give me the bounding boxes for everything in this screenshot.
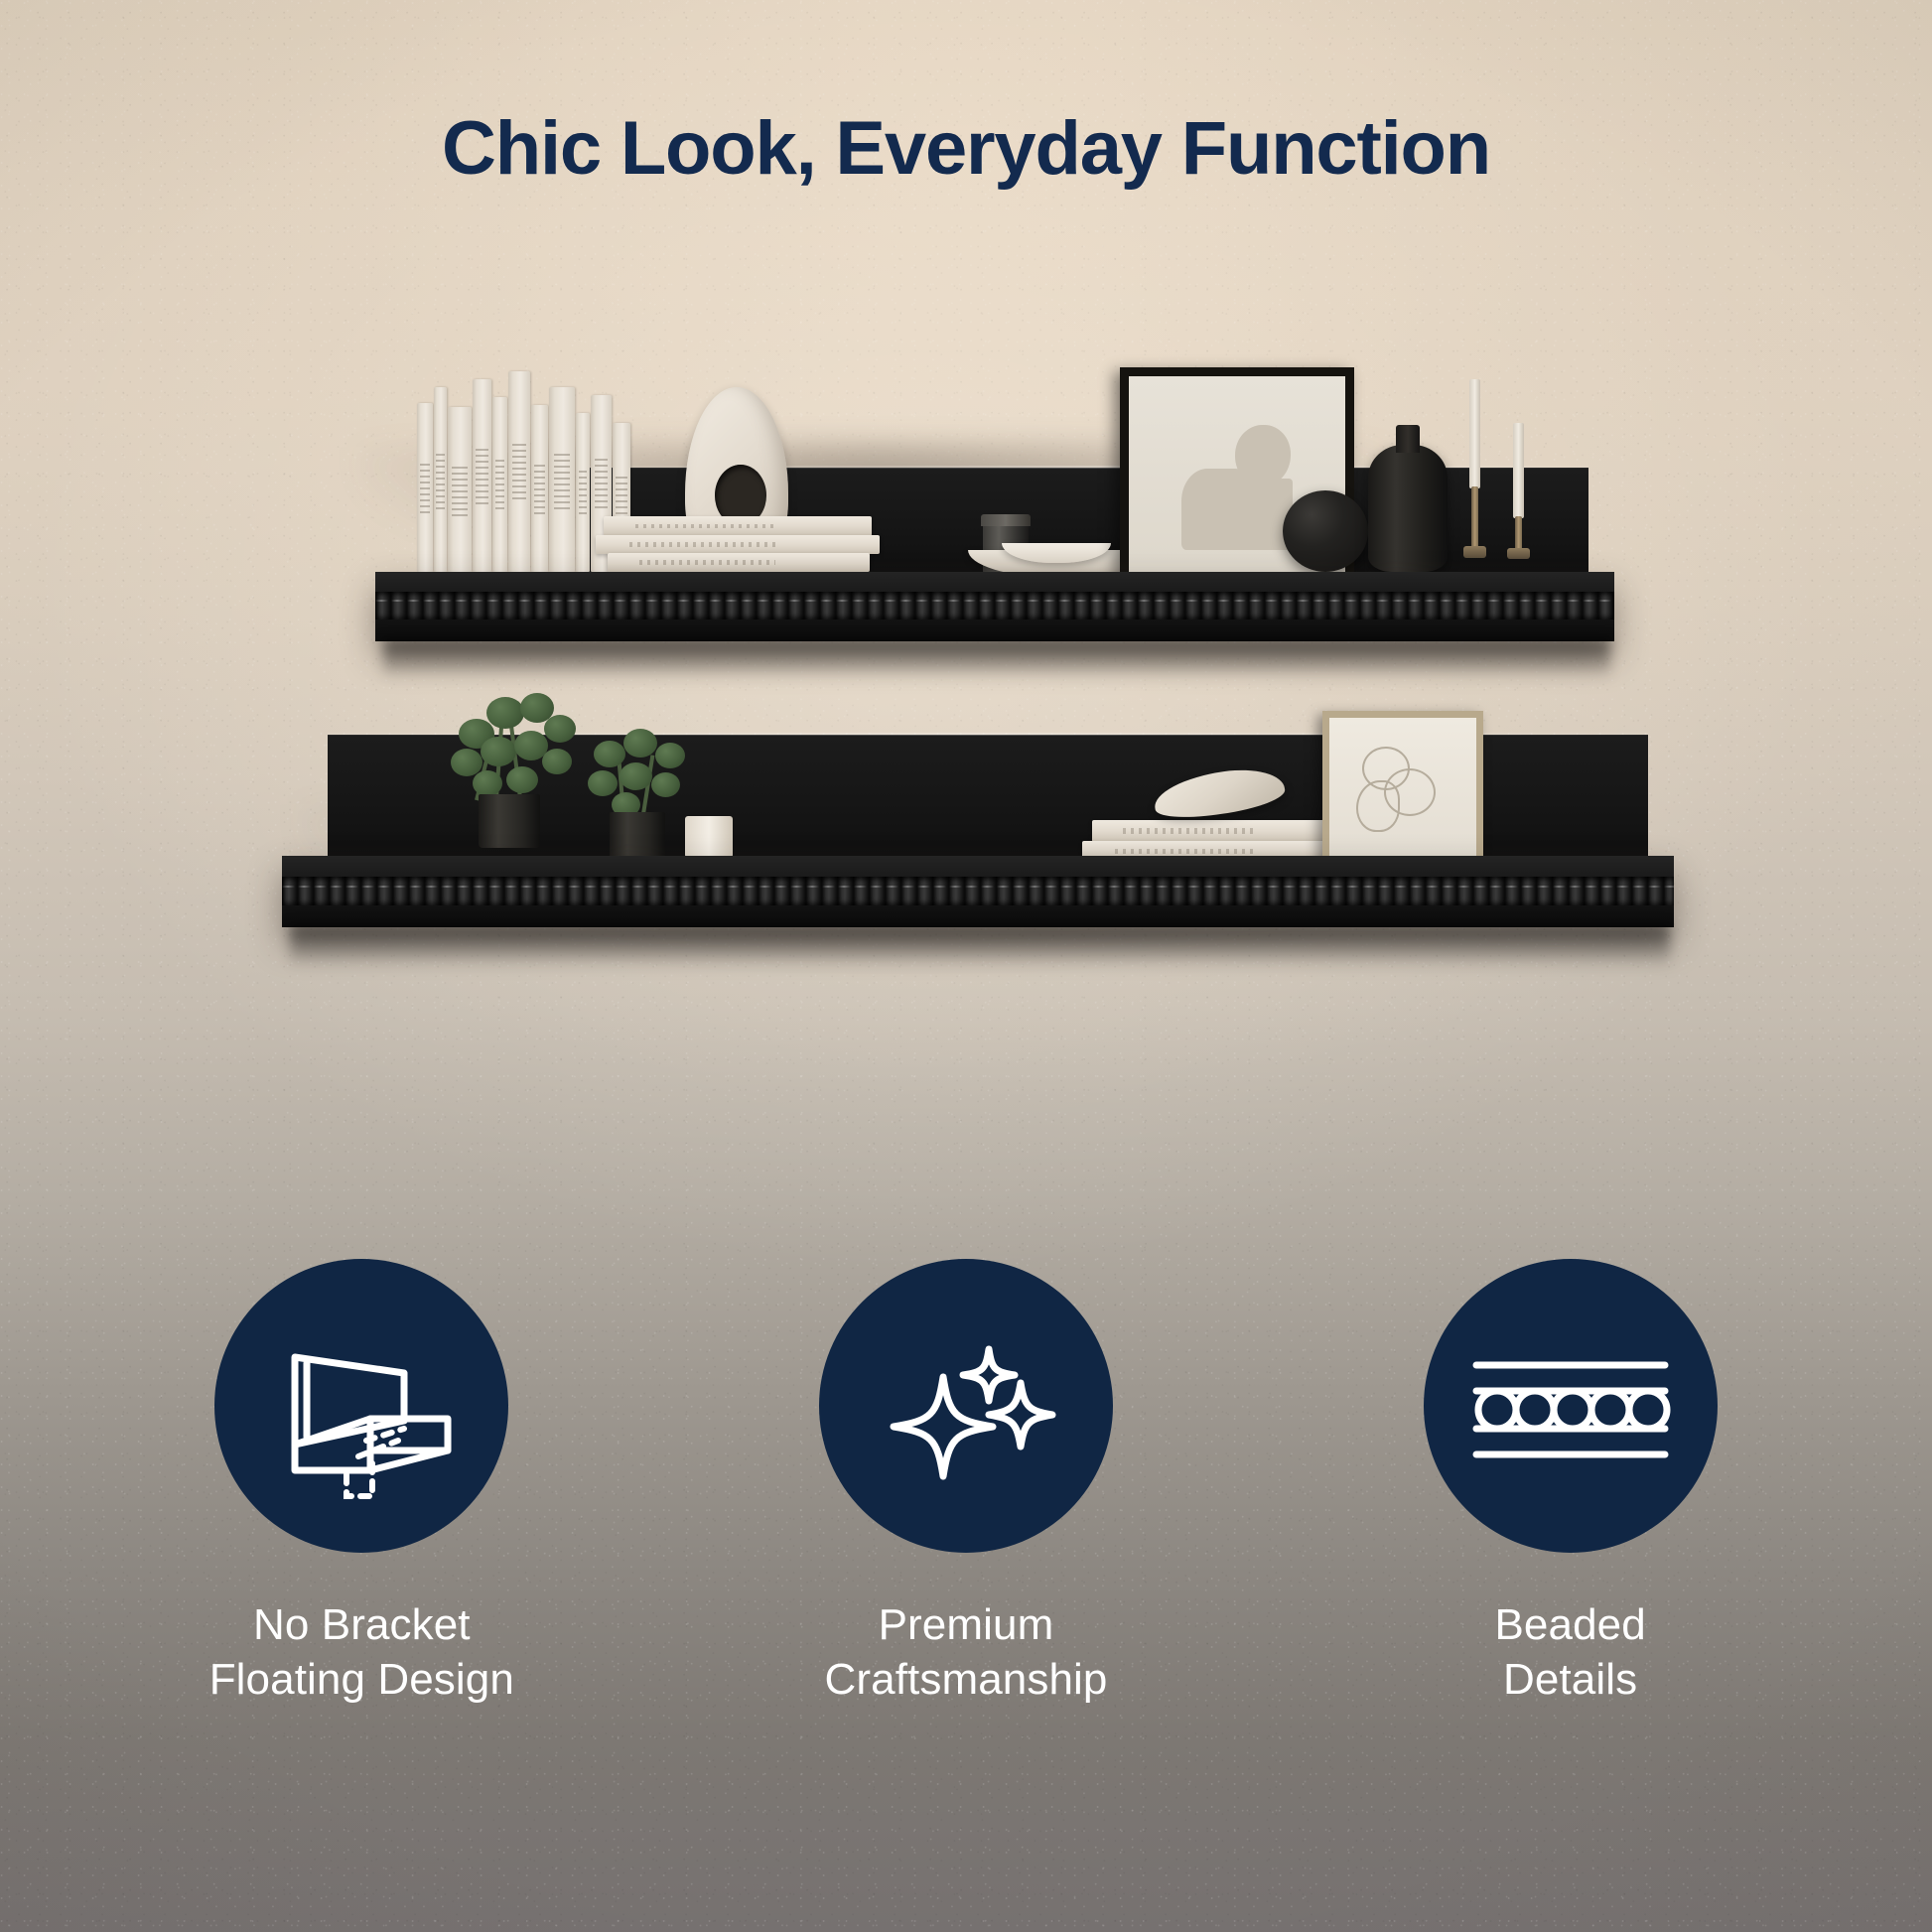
stacked-books-upper — [596, 516, 884, 574]
plant-leaf — [473, 770, 502, 796]
tall-vase-neck — [1396, 425, 1420, 453]
plant-leaf — [623, 729, 657, 758]
lower-shelf-underside-shadow — [290, 925, 1670, 967]
plant-leaf — [655, 743, 685, 768]
candle-holder-foot — [1507, 548, 1530, 559]
candle-wax — [1469, 379, 1480, 488]
plant-leaf — [486, 697, 524, 729]
floating-shelf-icon — [267, 1311, 456, 1500]
plant-leaf — [594, 741, 625, 767]
book-horizontal — [608, 553, 870, 572]
book-spine — [417, 403, 433, 572]
candle-holder-stem — [1471, 486, 1478, 548]
plant-pot — [610, 812, 665, 860]
book-horizontal — [1092, 820, 1348, 842]
plant-pot — [479, 794, 540, 848]
book-spine — [576, 413, 590, 572]
tall-black-vase — [1368, 425, 1448, 572]
book-spine — [492, 397, 507, 572]
round-black-vase — [1283, 490, 1368, 572]
page-title: Chic Look, Everyday Function — [0, 107, 1932, 191]
feature-label-1: No Bracket Floating Design — [209, 1598, 514, 1707]
book-spine — [448, 407, 472, 572]
book-spine — [549, 387, 575, 572]
lower-shelf-board — [282, 856, 1674, 927]
plant-leaf — [588, 770, 618, 796]
taper-candle-tall — [1463, 379, 1485, 572]
feature-badge-1 — [214, 1259, 508, 1553]
feature-premium-craftsmanship: Premium Craftsmanship — [738, 1259, 1194, 1707]
lower-shelf-beaded-trim — [282, 877, 1674, 905]
candle-holder-foot — [1463, 546, 1486, 558]
taper-candle-short — [1507, 423, 1529, 572]
upper-shelf-bead-highlight — [375, 600, 1614, 602]
feature-row: No Bracket Floating Design Premium Craft… — [0, 1259, 1932, 1707]
book-horizontal — [604, 516, 872, 536]
book-spine — [531, 405, 548, 572]
line-art-curve — [1356, 780, 1400, 832]
book-spine — [434, 387, 447, 572]
plant-leaf — [651, 772, 680, 797]
book-spine — [508, 371, 530, 572]
tin-lid — [981, 514, 1031, 526]
candle-wax — [1513, 423, 1524, 518]
plant-leaf — [481, 737, 516, 766]
feature-label-3: Beaded Details — [1494, 1598, 1645, 1707]
pillar-candle — [685, 816, 733, 858]
feature-badge-3 — [1424, 1259, 1718, 1553]
plant-leaf — [620, 762, 652, 790]
candle-holder-stem — [1515, 516, 1522, 550]
upper-shelf-board — [375, 572, 1614, 641]
feature-badge-2 — [819, 1259, 1113, 1553]
feature-no-bracket: No Bracket Floating Design — [133, 1259, 590, 1707]
feature-beaded-details: Beaded Details — [1342, 1259, 1799, 1707]
infographic-canvas: Chic Look, Everyday Function — [0, 0, 1932, 1932]
plant-leaf — [506, 766, 538, 793]
art-shape-arch — [1181, 469, 1247, 550]
upper-shelf-beaded-trim — [375, 592, 1614, 620]
sparkle-icon — [872, 1311, 1060, 1500]
lower-shelf — [0, 695, 1932, 1033]
beaded-trim-icon — [1466, 1311, 1675, 1500]
upper-shelf — [0, 328, 1932, 665]
framed-line-art — [1322, 711, 1483, 874]
feature-label-2: Premium Craftsmanship — [825, 1598, 1108, 1707]
book-spine — [473, 379, 491, 572]
book-horizontal — [596, 535, 880, 554]
upper-shelf-underside-shadow — [383, 639, 1610, 679]
lower-shelf-bead-highlight — [282, 886, 1674, 888]
tall-vase-body — [1368, 445, 1448, 572]
